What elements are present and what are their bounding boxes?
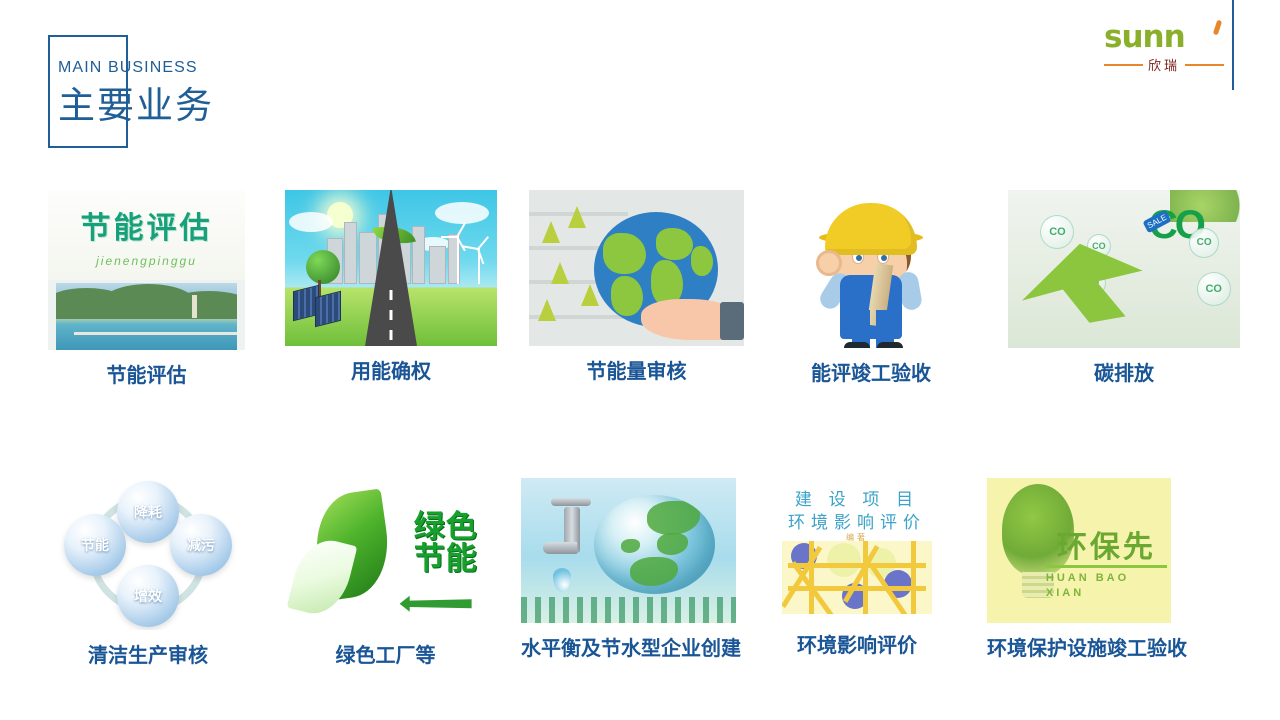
card-thumbnail: CO SALE CO CO CO CO CO bbox=[1008, 190, 1240, 348]
slide-root: MAIN BUSINESS 主要业务 sunn 欣瑞 节能评估 jienengp… bbox=[0, 0, 1280, 720]
co2-bubble: CO bbox=[1197, 272, 1231, 306]
huanbao-pinyin-line2: XIAN bbox=[1046, 586, 1171, 601]
huanbao-pinyin: HUAN BAO XIAN bbox=[1046, 571, 1171, 601]
globe-icon bbox=[594, 495, 714, 594]
business-card-clean-production[interactable]: 降耗 减污 增效 节能 清洁生产审核 bbox=[48, 478, 248, 668]
card-caption: 能评竣工验收 bbox=[776, 362, 966, 386]
faucet-spout bbox=[543, 542, 577, 554]
card-caption: 环境影响评价 bbox=[772, 634, 942, 658]
co2-bubble: CO bbox=[1040, 215, 1074, 249]
skyline-silhouette bbox=[521, 597, 736, 623]
card-caption: 绿色工厂等 bbox=[283, 644, 488, 668]
card-thumbnail bbox=[285, 190, 497, 346]
hard-hat-icon bbox=[825, 203, 917, 255]
page-title: 主要业务 bbox=[58, 82, 214, 130]
business-row-1: 节能评估 jienengpinggu 节能评估 bbox=[48, 190, 1236, 388]
card-thumbnail bbox=[529, 190, 744, 346]
cycle-node-top: 降耗 bbox=[117, 481, 179, 543]
art-hand-globe bbox=[529, 190, 744, 346]
faucet-handle bbox=[551, 498, 591, 506]
card-thumbnail: 节能评估 jienengpinggu bbox=[48, 190, 245, 350]
arrow-icon bbox=[400, 596, 472, 612]
logo-dash-left-icon bbox=[1104, 64, 1143, 66]
business-card-acceptance-inspection[interactable]: 能评竣工验收 bbox=[776, 190, 966, 388]
art-cycle-diagram: 降耗 减污 增效 节能 bbox=[48, 478, 248, 630]
ok-gesture-icon bbox=[816, 250, 842, 276]
water-drop-icon bbox=[553, 568, 571, 592]
card-caption: 水平衡及节水型企业创建 bbox=[521, 637, 736, 661]
art-book-energy-assessment: 节能评估 jienengpinggu bbox=[48, 190, 245, 350]
huanbao-title: 环保先 bbox=[1057, 522, 1156, 566]
art-green-leaves: 绿色 节能 bbox=[283, 478, 488, 630]
business-card-carbon-emission[interactable]: CO SALE CO CO CO CO CO 碳排放 bbox=[1008, 190, 1240, 388]
art-faucet-globe bbox=[521, 478, 736, 623]
art-huanbao-poster: 环保先 HUAN BAO XIAN bbox=[987, 478, 1171, 623]
logo-chinese-name: 欣瑞 bbox=[1148, 55, 1180, 74]
business-card-energy-saving-audit[interactable]: 节能量审核 bbox=[529, 190, 744, 388]
card-caption: 环境保护设施竣工验收 bbox=[987, 637, 1171, 661]
business-card-env-protection-acceptance[interactable]: 环保先 HUAN BAO XIAN 环境保护设施竣工验收 bbox=[987, 478, 1171, 668]
art-green-line1: 绿色 bbox=[414, 511, 478, 543]
card-thumbnail bbox=[776, 190, 966, 348]
business-card-water-balance[interactable]: 水平衡及节水型企业创建 bbox=[521, 478, 736, 668]
cycle-node-right: 减污 bbox=[170, 514, 232, 576]
eia-title: 建 设 项 目 环境影响评价 bbox=[772, 488, 942, 534]
company-logo: sunn 欣瑞 bbox=[1104, 22, 1224, 74]
logo-dash-right-icon bbox=[1185, 64, 1224, 66]
art-green-line2: 节能 bbox=[414, 543, 478, 575]
co2-bubble: CO bbox=[1189, 228, 1219, 258]
logo-wordmark: sunn bbox=[1104, 19, 1185, 55]
art-pinyin-text: jienengpinggu bbox=[48, 254, 245, 268]
business-card-eia[interactable]: 建 设 项 目 环境影响评价 编著 bbox=[772, 478, 942, 668]
business-card-energy-rights[interactable]: 用能确权 bbox=[285, 190, 497, 388]
eia-title-line2: 环境影响评价 bbox=[772, 511, 942, 534]
page-eyebrow: MAIN BUSINESS bbox=[58, 58, 214, 78]
solar-panel-icon bbox=[315, 291, 341, 327]
page-title-block: MAIN BUSINESS 主要业务 bbox=[58, 58, 214, 130]
logo-wordmark-row: sunn bbox=[1104, 22, 1224, 52]
logo-leaf-icon bbox=[1213, 20, 1222, 36]
card-caption: 节能评估 bbox=[48, 364, 245, 388]
business-card-energy-assessment[interactable]: 节能评估 jienengpinggu 节能评估 bbox=[48, 190, 245, 388]
art-co2-arrow: CO SALE CO CO CO CO CO bbox=[1008, 190, 1240, 348]
logo-chinese-row: 欣瑞 bbox=[1104, 55, 1224, 74]
tree-icon bbox=[306, 250, 340, 284]
cycle-node-left: 节能 bbox=[64, 514, 126, 576]
card-thumbnail: 环保先 HUAN BAO XIAN bbox=[987, 478, 1171, 623]
business-row-2: 降耗 减污 增效 节能 清洁生产审核 绿色 节能 bbox=[48, 478, 1236, 668]
art-eia-book: 建 设 项 目 环境影响评价 编著 bbox=[772, 478, 942, 620]
eia-title-line1: 建 设 项 目 bbox=[772, 488, 942, 511]
card-thumbnail: 建 设 项 目 环境影响评价 编著 bbox=[772, 478, 942, 620]
business-card-green-factory[interactable]: 绿色 节能 绿色工厂等 bbox=[283, 478, 488, 668]
art-green-city bbox=[285, 190, 497, 346]
eia-cover-graphic bbox=[782, 541, 932, 615]
leaf-icon bbox=[287, 533, 358, 620]
card-caption: 清洁生产审核 bbox=[48, 644, 248, 668]
art-green-text: 绿色 节能 bbox=[414, 511, 478, 575]
card-thumbnail: 绿色 节能 bbox=[283, 478, 488, 630]
art-construction-worker bbox=[776, 190, 966, 348]
art-title-text: 节能评估 bbox=[48, 203, 245, 247]
card-caption: 节能量审核 bbox=[529, 360, 744, 384]
header-vertical-rule bbox=[1232, 0, 1234, 90]
art-landscape-photo bbox=[56, 283, 237, 350]
card-thumbnail bbox=[521, 478, 736, 623]
arrow-cursor-shape bbox=[1022, 244, 1143, 323]
card-caption: 用能确权 bbox=[285, 360, 497, 384]
card-caption: 碳排放 bbox=[1008, 362, 1240, 386]
cycle-node-bottom: 增效 bbox=[117, 565, 179, 627]
card-thumbnail: 降耗 减污 增效 节能 bbox=[48, 478, 248, 630]
huanbao-pinyin-line1: HUAN BAO bbox=[1046, 571, 1171, 586]
